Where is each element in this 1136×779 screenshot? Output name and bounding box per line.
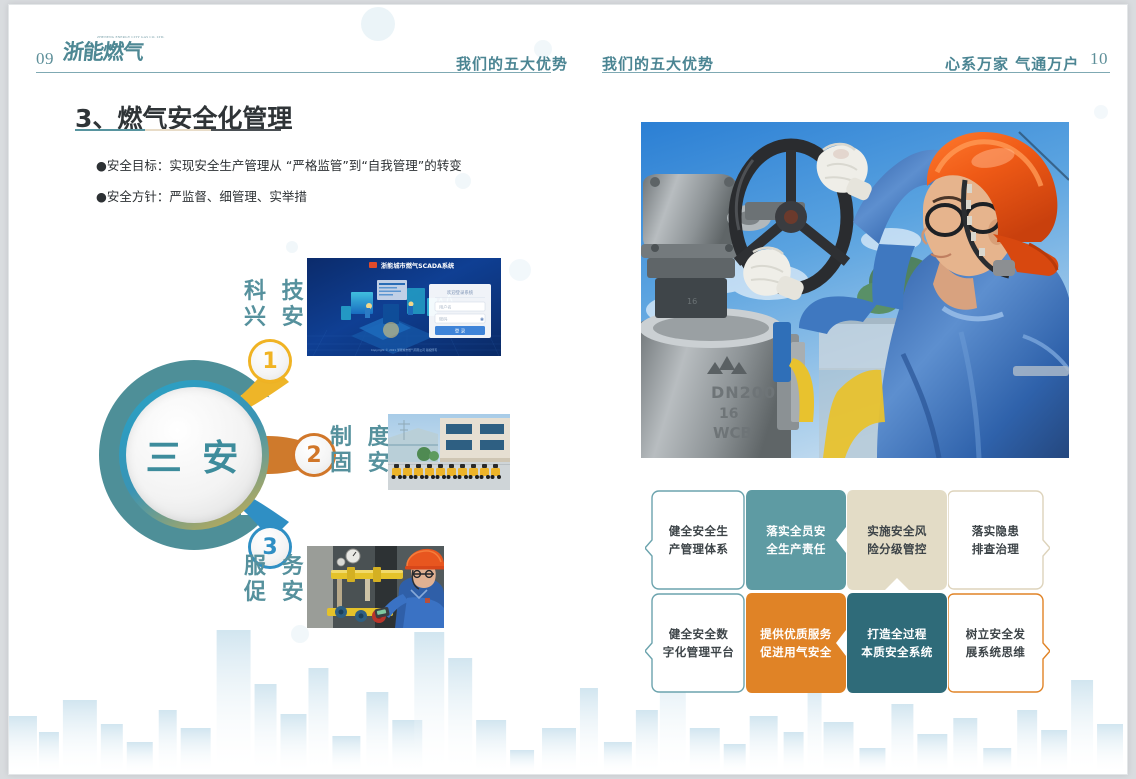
wheel-node-2-label: 制 度 固 安 [330,425,394,477]
hero-photo-graphic: DN200 16 WCB 16 [641,122,1069,458]
page-number-right: 10 [1090,49,1108,69]
svg-text:浙能城市燃气SCADA系统: 浙能城市燃气SCADA系统 [381,262,455,270]
slide-page: 09 ZHENENG ENERGY CITY GAS CO. LTD. 浙能燃气… [8,4,1128,775]
pillar-box-2[interactable]: 落实全员安 全生产责任 [746,490,846,590]
wheel-badge-2[interactable]: 2 [295,436,333,474]
pillar-box-5-line2: 字化管理平台 [663,643,734,661]
wheel-node-1-label-line2: 兴 安 [244,305,308,331]
pillar-box-5[interactable]: 健全安全数 字化管理平台 [645,593,745,693]
pillar-box-2-line2: 全生产责任 [766,540,826,558]
deco-circle-4 [509,259,531,281]
wheel-core-label: 三 安 [146,429,243,481]
wheel-node-3-label-line2: 促 安 [244,580,308,606]
wheel-badge-2-number: 2 [306,443,321,468]
gas-meter-inspection-graphic [307,546,444,628]
slide-header: 09 ZHENENG ENERGY CITY GAS CO. LTD. 浙能燃气… [9,5,1127,85]
pillar-box-1-text: 健全安全生 产管理体系 [645,490,745,590]
svg-text:欢迎登录系统: 欢迎登录系统 [447,289,474,296]
scooter-fleet-graphic [388,414,510,490]
pillar-box-8-line1: 树立安全发 [966,625,1026,643]
svg-text:Copyright © 2021 浙能城市燃气有限公司 版权: Copyright © 2021 浙能城市燃气有限公司 版权所有 [371,348,437,352]
pillar-box-4-line2: 排查治理 [972,540,1020,558]
pillar-box-1-line2: 产管理体系 [669,540,729,558]
pillar-box-6-line2: 促进用气安全 [760,643,831,661]
pillar-box-8[interactable]: 树立安全发 展系统思维 [948,593,1050,693]
svg-text:登 录: 登 录 [455,328,466,335]
pillar-box-5-text: 健全安全数 字化管理平台 [645,593,745,693]
scada-login-graphic: 浙能城市燃气SCADA系统 [307,258,501,356]
header-right-title: 我们的五大优势 [602,53,714,74]
pillar-box-6-line1: 提供优质服务 [760,625,831,643]
wheel-core: 三 安 [126,387,262,523]
wheel-node-2-label-line1: 制 度 [330,425,394,451]
pillar-box-8-text: 树立安全发 展系统思维 [948,593,1050,693]
svg-text:16: 16 [687,297,697,306]
scada-login-screenshot[interactable]: 浙能城市燃气SCADA系统 [307,258,501,356]
pillar-box-2-line1: 落实全员安 [766,522,826,540]
wheel-node-2-label-line2: 固 安 [330,451,394,477]
header-slogan: 心系万家 气通万户 [945,53,1079,74]
pillar-box-3-line1: 实施安全风 [867,522,927,540]
pillar-box-7-line1: 打造全过程 [867,625,927,643]
header-left-title: 我们的五大优势 [456,53,568,74]
wheel-node-1-label-line1: 科 技 [244,279,308,305]
title-underline-seg-2 [145,129,211,131]
wheel-badge-1-number: 1 [262,349,277,374]
pillar-box-3[interactable]: 实施安全风 险分级管控 [847,490,947,590]
scooter-fleet-photo[interactable] [388,414,510,490]
company-logo: ZHENENG ENERGY CITY GAS CO. LTD. 浙能燃气 [63,35,153,69]
wheel-node-1-label: 科 技 兴 安 [244,279,308,331]
svg-text:16: 16 [719,406,738,422]
bullet-safety-policy: ●安全方针：严监督、细管理、实举措 [96,186,307,205]
header-rule-left [36,72,551,73]
svg-text:◉: ◉ [480,318,484,323]
gas-meter-inspection-photo[interactable] [307,546,444,628]
deco-circle-3 [455,173,471,189]
svg-text:WCB: WCB [713,424,752,442]
pillar-box-3-text: 实施安全风 险分级管控 [847,490,947,590]
pillar-box-3-line2: 险分级管控 [867,540,927,558]
safety-pillars-diagram: 健全安全生 产管理体系 落实全员安 全生产责任 实施安全风 险分级管控 [645,490,1069,695]
pillar-box-8-line2: 展系统思维 [966,643,1026,661]
header-rule-right [602,72,1110,73]
svg-text:密码: 密码 [439,316,447,323]
pillar-box-1-line1: 健全安全生 [669,522,729,540]
san-an-wheel-diagram: 三 安 1 2 3 [99,360,319,575]
wheel-badge-1[interactable]: 1 [251,342,289,380]
pillar-box-4-line1: 落实隐患 [972,522,1020,540]
pillar-box-7[interactable]: 打造全过程 本质安全系统 [847,593,947,693]
logo-chinese-text: 浙能燃气 [62,40,145,64]
pillar-box-6-text: 提供优质服务 促进用气安全 [746,593,846,693]
pillar-box-7-text: 打造全过程 本质安全系统 [847,593,947,693]
pillar-box-5-line1: 健全安全数 [669,625,729,643]
pillar-box-6[interactable]: 提供优质服务 促进用气安全 [746,593,846,693]
pillar-box-4-text: 落实隐患 排查治理 [948,490,1050,590]
wheel-node-3-label: 服 务 促 安 [244,554,308,606]
pillar-box-2-text: 落实全员安 全生产责任 [746,490,846,590]
svg-text:用户名: 用户名 [439,304,452,311]
pillar-box-7-line2: 本质安全系统 [861,643,932,661]
title-underline-seg-1 [75,129,145,131]
deco-circle-5 [286,241,298,253]
page-number-left: 09 [36,49,54,69]
svg-text:DN200: DN200 [711,383,776,402]
pillar-box-4[interactable]: 落实隐患 排查治理 [948,490,1050,590]
bullet-safety-goal: ●安全目标：实现安全生产管理从 “严格监管”到“自我管理”的转变 [96,155,462,174]
title-underline-seg-3 [211,129,281,131]
deco-circle-7 [1094,105,1108,119]
worker-turning-valve-wheel-photo: DN200 16 WCB 16 [641,122,1069,458]
pillar-box-1[interactable]: 健全安全生 产管理体系 [645,490,745,590]
wheel-node-3-label-line1: 服 务 [244,554,308,580]
